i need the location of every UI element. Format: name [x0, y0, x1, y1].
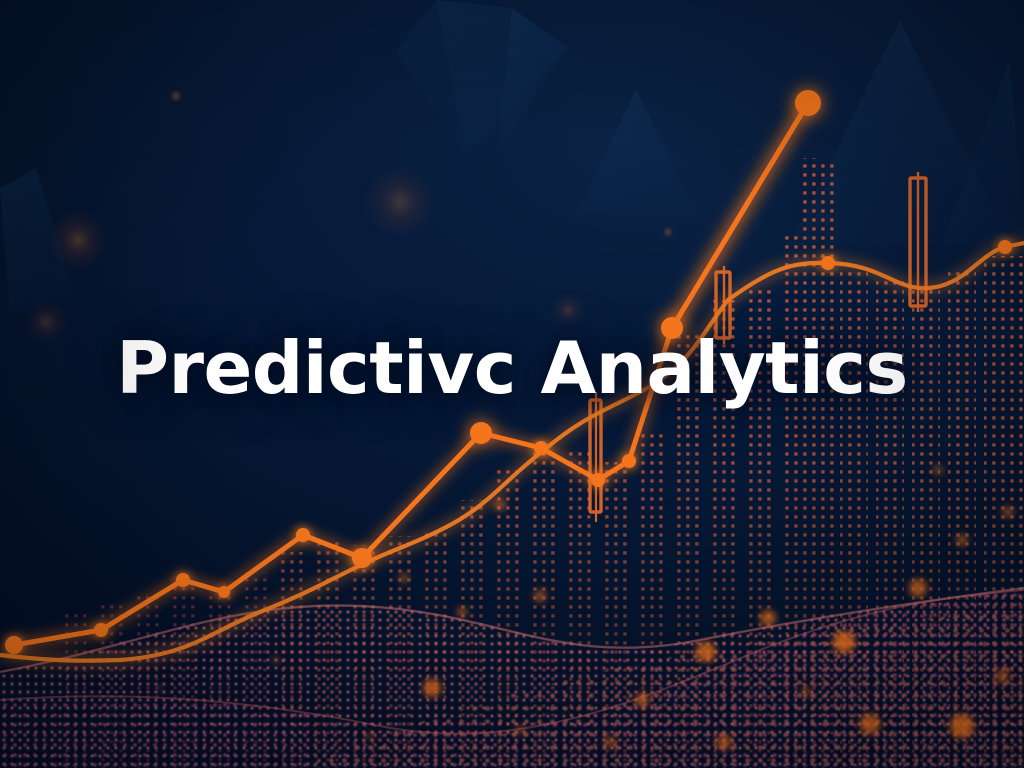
dot-column	[600, 462, 628, 768]
data-point-marker	[218, 586, 230, 598]
dot-column	[312, 540, 340, 768]
halftone-dot-columns	[60, 158, 1024, 768]
dot-column	[456, 500, 484, 768]
decor-glow-spots	[24, 89, 674, 344]
data-point-marker	[591, 473, 605, 487]
hero-title-wrap: Predictivc Analytics	[0, 332, 1024, 404]
glow-top-dot	[169, 89, 183, 103]
dot-column	[420, 528, 448, 768]
glow-center	[364, 166, 436, 238]
dot-column	[492, 470, 520, 768]
data-point-marker	[176, 573, 190, 587]
data-point-marker-peak	[795, 90, 821, 116]
mesh-crest-lines	[0, 588, 1024, 734]
dot-column	[384, 536, 412, 768]
mesh-surfaces	[0, 588, 1024, 768]
dot-column	[168, 586, 196, 768]
glow-left-upper	[48, 210, 108, 270]
data-point-marker	[94, 623, 108, 637]
data-point-marker	[296, 528, 310, 542]
bokeh-particles	[157, 465, 1014, 750]
dot-column	[60, 612, 88, 768]
polygon-top-center-a	[436, 0, 568, 156]
polygon-top-center-b	[396, 0, 466, 156]
dot-column	[204, 586, 232, 768]
data-point-marker	[622, 454, 636, 468]
dot-column	[528, 452, 556, 768]
dot-column	[780, 232, 798, 768]
polygon-top-left	[0, 168, 74, 316]
polygon-right-big	[790, 20, 1010, 244]
dot-column	[802, 158, 816, 768]
dot-column	[240, 572, 268, 768]
trend-markers	[5, 441, 636, 654]
glow-right-small	[662, 226, 674, 238]
page-title: Predictivc Analytics	[116, 332, 908, 404]
dot-column	[132, 596, 160, 768]
dot-column	[276, 552, 304, 768]
dot-column	[348, 545, 376, 768]
polygon-top-center-c	[498, 8, 568, 150]
bottom-dot-mesh-wave	[300, 610, 1024, 768]
dot-column	[820, 162, 834, 768]
decor-polygons	[0, 0, 1024, 316]
data-point-marker	[470, 422, 492, 444]
dot-column	[564, 452, 592, 768]
data-point-marker	[5, 636, 23, 654]
data-point-marker	[998, 240, 1012, 254]
upper-dot-mesh-wave	[0, 588, 1024, 768]
glow-mid-right	[550, 292, 586, 328]
mesh-crest-upper	[0, 588, 1024, 672]
polygon-right-edge	[940, 60, 1024, 248]
hero-banner: Predictivc Analytics	[0, 0, 1024, 768]
dot-column	[96, 604, 124, 768]
data-point-marker	[534, 441, 548, 455]
data-point-marker	[821, 256, 835, 270]
polygon-mid-triangle	[578, 90, 700, 218]
candlestick	[910, 172, 926, 312]
secondary-smooth-curve	[0, 240, 1024, 661]
candlestick	[590, 392, 601, 522]
mesh-crest-lower	[0, 590, 1024, 734]
data-point-marker	[352, 548, 372, 568]
dot-column	[636, 430, 664, 768]
lower-dot-mesh-wave	[0, 590, 1024, 768]
